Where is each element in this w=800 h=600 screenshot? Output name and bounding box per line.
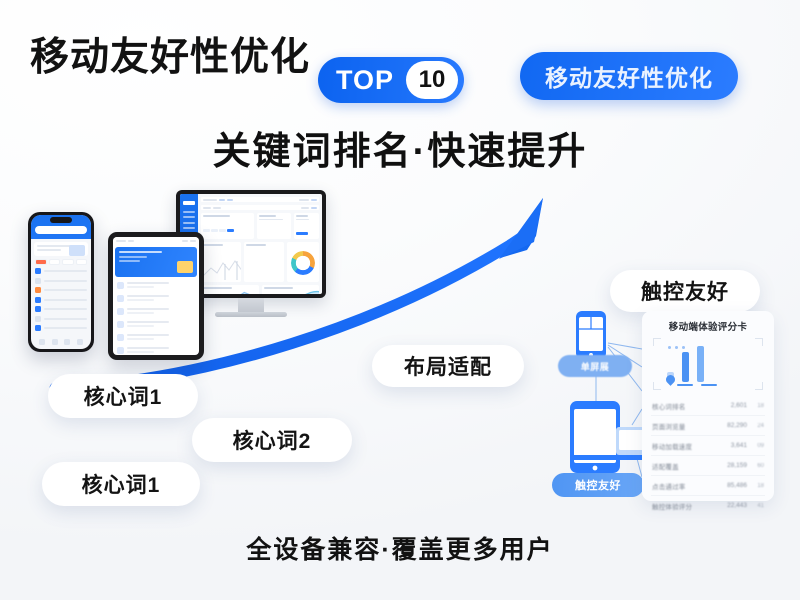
- score-row-value: 28,159: [727, 462, 747, 469]
- top-badge-label: TOP: [336, 65, 406, 96]
- score-card-chart: [653, 338, 763, 390]
- device-mockup-group: [28, 190, 328, 370]
- keyword-pill-2[interactable]: 核心词2: [192, 418, 352, 462]
- score-row-name: 页面浏览量: [652, 421, 723, 431]
- score-row-delta: 24: [751, 423, 764, 429]
- score-row-delta: 41: [751, 503, 764, 509]
- keyword-pill-1[interactable]: 核心词1: [48, 374, 198, 418]
- score-row-value: 85,486: [727, 482, 747, 489]
- top-badge-number: 10: [406, 61, 458, 99]
- score-row-value: 22,443: [727, 502, 747, 509]
- score-row-delta: 18: [751, 483, 764, 489]
- score-row-name: 触控体验评分: [652, 501, 723, 511]
- score-card-title: 移动端体验评分卡: [651, 319, 765, 333]
- phone-mockup: [28, 212, 94, 352]
- score-row-name: 点击通过率: [652, 481, 723, 491]
- score-row-name: 移动加载速度: [652, 441, 727, 451]
- score-row: 移动加载速度 3,641 09: [651, 436, 765, 456]
- score-card-rows: 核心词排名 2,601 18 页面浏览量 82,290 24 移动加载速度 3,…: [651, 396, 765, 515]
- footer-tagline: 全设备兼容·覆盖更多用户: [0, 530, 800, 566]
- score-row: 触控体验评分 22,443 41: [651, 496, 765, 515]
- diagram-pill-single-screen: 单屏展: [558, 355, 632, 377]
- keyword-pill-3[interactable]: 核心词1: [42, 462, 200, 506]
- score-row-delta: 60: [751, 463, 764, 469]
- page-title: 移动友好性优化: [30, 26, 310, 82]
- poster-canvas: 移动友好性优化 TOP 10 移动友好性优化 关键词排名·快速提升: [0, 0, 800, 600]
- score-row-name: 适配覆盖: [652, 461, 723, 471]
- mobile-diagram: 单屏展 触控友好 移动端体验评分卡 核心词排名 2,601 18: [550, 305, 780, 510]
- score-row-delta: 18: [751, 403, 764, 409]
- score-row: 页面浏览量 82,290 24: [651, 416, 765, 436]
- score-row-delta: 09: [751, 443, 764, 449]
- tablet-mockup: [108, 232, 204, 360]
- diagram-pill-touch-friendly: 触控友好: [552, 473, 644, 497]
- score-row: 适配覆盖 28,159 60: [651, 456, 765, 476]
- score-row-value: 3,641: [731, 442, 747, 449]
- top-rank-badge: TOP 10: [318, 57, 464, 103]
- score-row-name: 核心词排名: [652, 401, 727, 411]
- feature-pill-layout[interactable]: 布局适配: [372, 345, 524, 387]
- donut-chart: [287, 242, 319, 282]
- score-row-value: 82,290: [727, 422, 747, 429]
- score-row: 点击通过率 85,486 18: [651, 476, 765, 496]
- score-row-value: 2,601: [731, 402, 747, 409]
- header-tag-pill: 移动友好性优化: [520, 52, 738, 100]
- score-card-panel: 移动端体验评分卡 核心词排名 2,601 18 页面浏览量 82,290: [642, 311, 774, 501]
- score-row: 核心词排名 2,601 18: [651, 396, 765, 416]
